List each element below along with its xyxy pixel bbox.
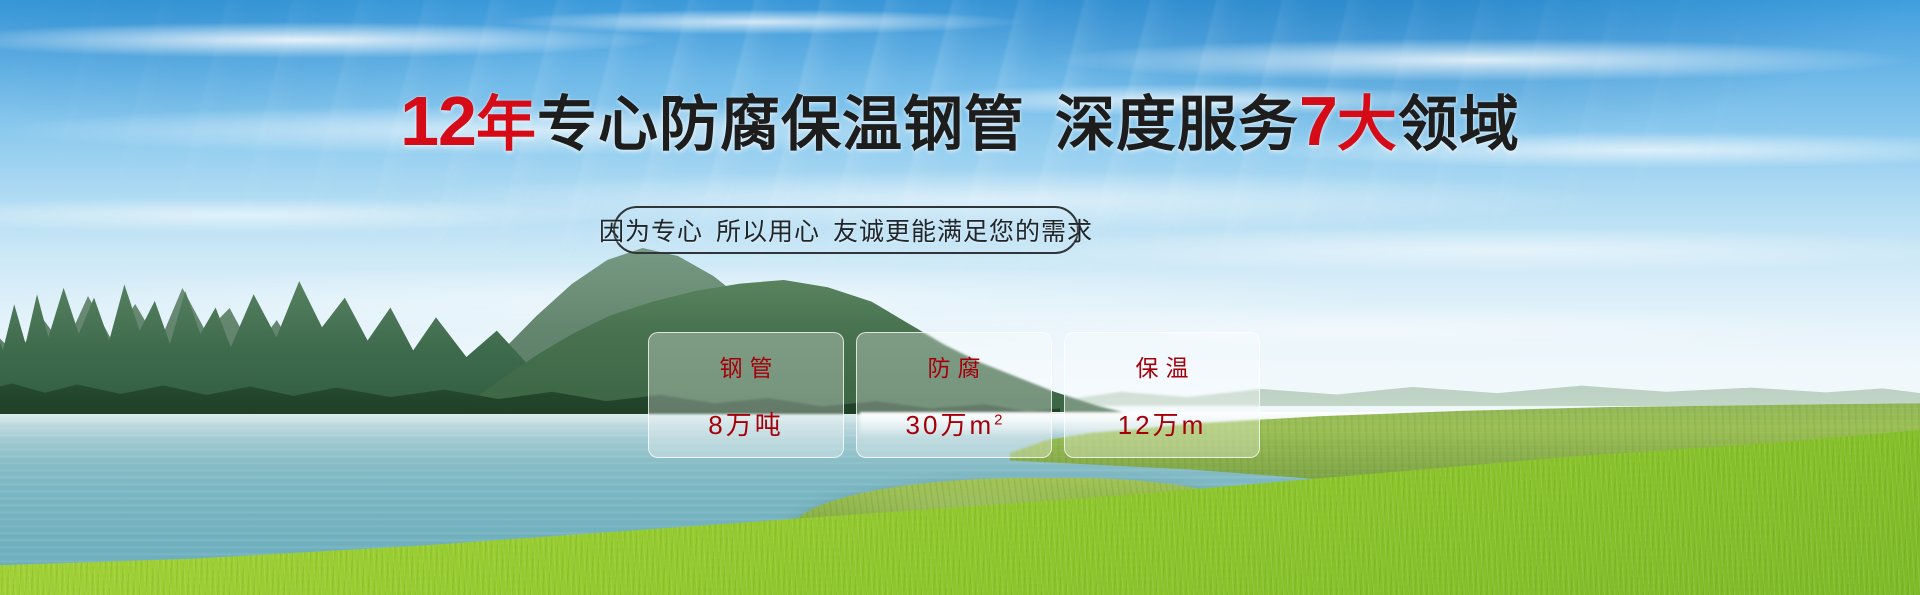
headline-service-prefix: 深度服务 [1055, 91, 1299, 158]
stat-label: 钢管 [713, 349, 780, 383]
headline-fields-number: 7 [1299, 82, 1337, 160]
stat-label: 防腐 [921, 349, 988, 383]
stat-card-anticorrosion: 防腐 30万m2 [856, 332, 1052, 458]
headline-years-number: 12 [400, 82, 476, 160]
stat-value: 8万吨 [708, 405, 783, 442]
slogan-part-2: 所以用心 [716, 218, 820, 246]
stat-value-text: 12万m [1118, 410, 1207, 440]
slogan-text: 因为专心所以用心友诚更能满足您的需求 [599, 212, 1093, 248]
banner-content: 12年专心防腐保温钢管深度服务7大领域 因为专心所以用心友诚更能满足您的需求 钢… [0, 0, 1920, 595]
promo-banner: 12年专心防腐保温钢管深度服务7大领域 因为专心所以用心友诚更能满足您的需求 钢… [0, 0, 1920, 595]
stat-card-group: 钢管 8万吨 防腐 30万m2 保温 12万m [648, 332, 1260, 458]
slogan-pill: 因为专心所以用心友诚更能满足您的需求 [613, 206, 1079, 254]
headline-years-unit: 年 [476, 91, 537, 158]
stat-value-text: 8万吨 [708, 410, 783, 440]
stat-value: 12万m [1118, 405, 1207, 442]
stat-value-superscript: 2 [994, 411, 1002, 428]
headline-middle-text: 专心防腐保温钢管 [537, 91, 1025, 158]
stat-label: 保温 [1129, 349, 1196, 383]
stat-card-steel-pipe: 钢管 8万吨 [648, 332, 844, 458]
stat-value-text: 30万m [906, 410, 995, 440]
stat-value: 30万m2 [906, 405, 1003, 442]
stat-card-insulation: 保温 12万m [1064, 332, 1260, 458]
slogan-part-3: 友诚更能满足您的需求 [833, 218, 1093, 246]
headline-fields-unit: 大 [1337, 91, 1398, 158]
headline-suffix: 领域 [1398, 91, 1520, 158]
slogan-part-1: 因为专心 [599, 218, 703, 246]
headline: 12年专心防腐保温钢管深度服务7大领域 [0, 86, 1920, 156]
